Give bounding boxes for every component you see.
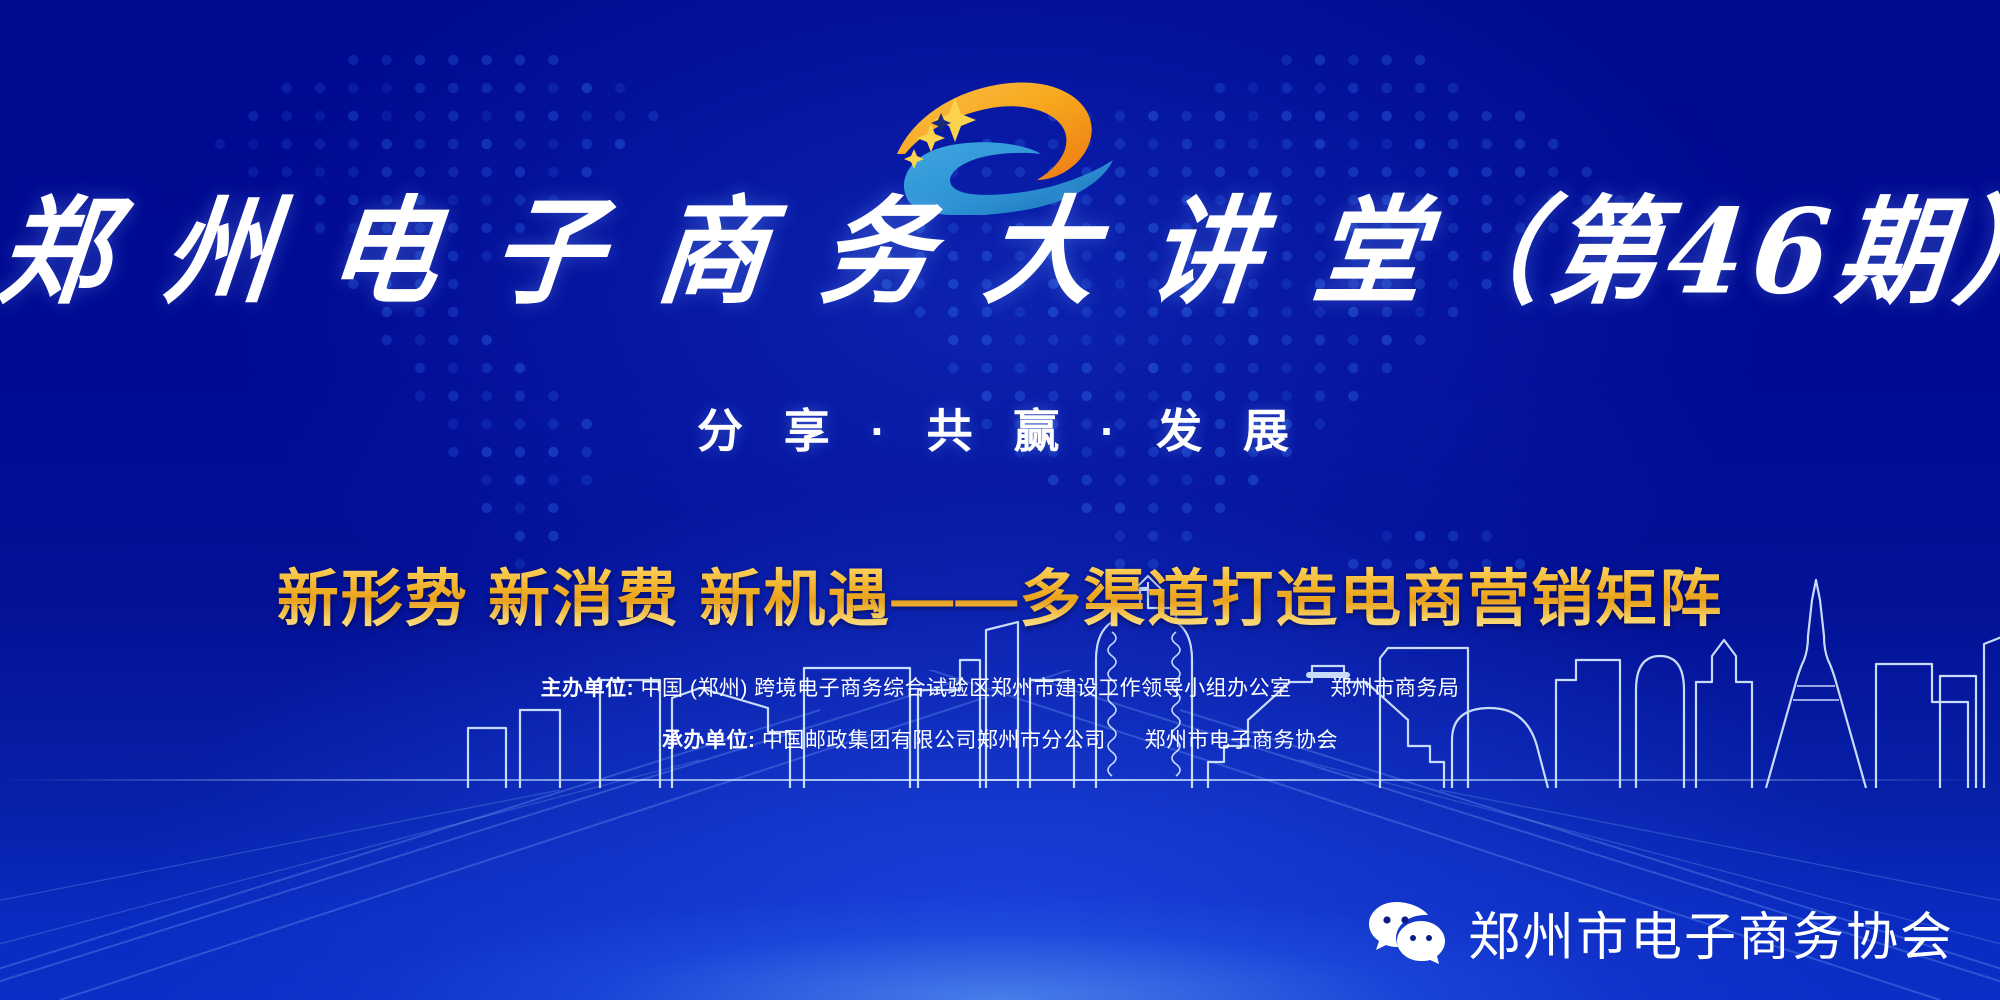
- organizers-block: 主办单位: 中国 (郑州) 跨境电子商务综合试验区郑州市建设工作领导小组办公室 …: [0, 672, 2000, 776]
- host-label: 主办单位:: [541, 677, 635, 700]
- wechat-icon: [1368, 898, 1446, 968]
- banner-slogan-container: 分 享 · 共 赢 · 发 展: [0, 395, 2000, 461]
- horizon-line-decoration: [0, 779, 2000, 781]
- coorganizer-label: 承办单位:: [662, 729, 756, 752]
- banner-title-container: 郑 州 电 子 商 务 大 讲 堂（第46期）: [0, 196, 2000, 308]
- organizer-line-host: 主办单位: 中国 (郑州) 跨境电子商务综合试验区郑州市建设工作领导小组办公室 …: [0, 672, 2000, 702]
- event-banner: 郑 州 电 子 商 务 大 讲 堂（第46期） 分 享 · 共 赢 · 发 展 …: [0, 0, 2000, 1000]
- banner-theme-container: 新形势 新消费 新机遇——多渠道打造电商营销矩阵: [0, 548, 2000, 638]
- wechat-account-badge: 郑州市电子商务协会: [1368, 895, 1954, 970]
- host-value: 中国 (郑州) 跨境电子商务综合试验区郑州市建设工作领导小组办公室: [641, 677, 1292, 700]
- banner-theme: 新形势 新消费 新机遇——多渠道打造电商营销矩阵: [277, 548, 1723, 638]
- host-value-secondary: 郑州市商务局: [1330, 677, 1459, 700]
- coorganizer-value-secondary: 郑州市电子商务协会: [1145, 729, 1339, 752]
- organizer-line-coorganizer: 承办单位: 中国邮政集团有限公司郑州市分公司 郑州市电子商务协会: [0, 724, 2000, 754]
- wechat-account-name: 郑州市电子商务协会: [1468, 895, 1954, 970]
- page-title: 郑 州 电 子 商 务 大 讲 堂（第46期）: [0, 193, 2000, 312]
- coorganizer-value: 中国邮政集团有限公司郑州市分公司: [762, 729, 1106, 752]
- banner-slogan: 分 享 · 共 赢 · 发 展: [697, 395, 1303, 461]
